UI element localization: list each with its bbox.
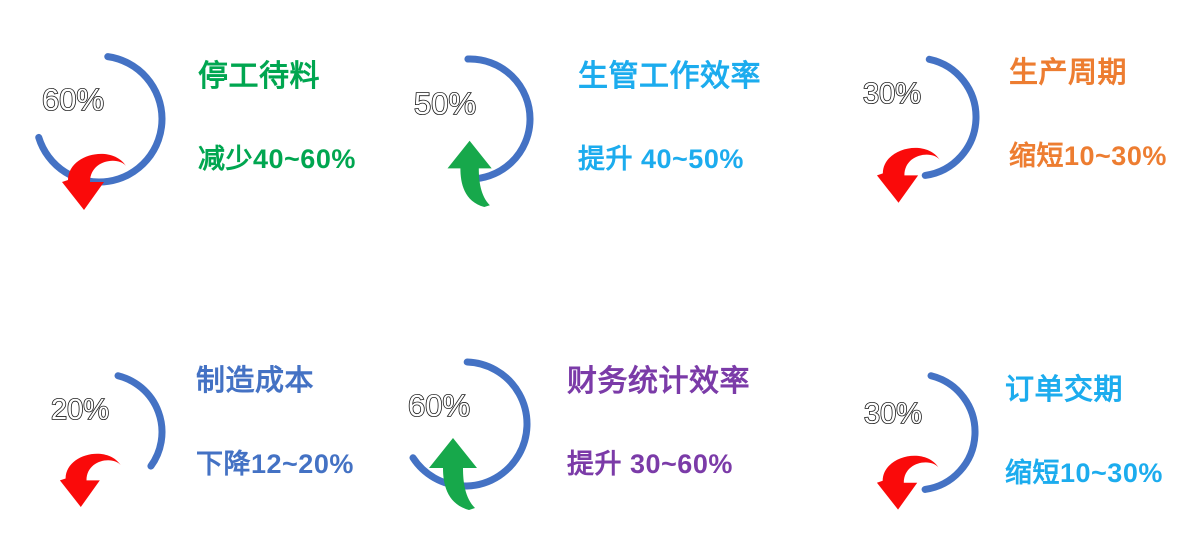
benefit-item: 50%生管工作效率提升 40~50% [408, 22, 761, 212]
benefit-subtitle: 缩短10~30% [1009, 142, 1167, 172]
infographic-board: 60%停工待料减少40~60% 50%生管工作效率提升 40~50% 30%生产… [0, 0, 1194, 555]
benefit-subtitle: 提升 30~60% [567, 450, 750, 480]
gauge: 60% [14, 22, 184, 212]
benefit-subtitle: 减少40~60% [198, 145, 356, 175]
gauge-percent-label: 60% [0, 84, 158, 115]
benefit-subtitle: 下降12~20% [196, 450, 354, 480]
gauge: 30% [845, 22, 995, 207]
benefit-title: 生管工作效率 [578, 60, 761, 93]
benefit-title: 制造成本 [196, 366, 354, 398]
gauge: 30% [845, 352, 995, 512]
benefit-title: 订单交期 [1005, 375, 1163, 407]
benefit-item: 30%生产周期缩短10~30% [845, 22, 1167, 207]
benefit-labels: 财务统计效率提升 30~60% [567, 365, 750, 480]
gauge-percent-label: 30% [817, 80, 967, 109]
gauge-arc-icon [14, 22, 184, 212]
gauge: 50% [408, 22, 548, 212]
arc-track [925, 59, 976, 175]
gauge-percent-label: 50% [375, 88, 515, 119]
benefit-labels: 制造成本下降12~20% [196, 366, 354, 480]
benefit-labels: 订单交期缩短10~30% [1005, 375, 1163, 489]
gauge-percent-label: 60% [359, 390, 519, 421]
curved-arrow-up-icon [429, 438, 477, 510]
benefit-labels: 生产周期缩短10~30% [1009, 58, 1167, 172]
benefit-title: 停工待料 [198, 60, 356, 93]
benefit-labels: 生管工作效率提升 40~50% [578, 60, 761, 175]
benefit-item: 60%财务统计效率提升 30~60% [385, 332, 750, 512]
gauge-arc-icon [845, 22, 995, 207]
benefit-labels: 停工待料减少40~60% [198, 60, 356, 175]
benefit-item: 20%制造成本下降12~20% [34, 340, 354, 505]
benefit-item: 30%订单交期缩短10~30% [845, 352, 1163, 512]
gauge-percent-label: 30% [818, 400, 968, 429]
gauge-percent-label: 20% [5, 396, 155, 425]
curved-arrow-down-icon [877, 456, 938, 510]
benefit-item: 60%停工待料减少40~60% [14, 22, 356, 212]
curved-arrow-down-icon [60, 454, 121, 507]
benefit-title: 生产周期 [1009, 58, 1167, 90]
benefit-title: 财务统计效率 [567, 365, 750, 398]
benefit-subtitle: 缩短10~30% [1005, 459, 1163, 489]
gauge-arc-icon [845, 352, 995, 512]
gauge: 20% [34, 340, 184, 505]
arc-track [925, 376, 975, 490]
benefit-subtitle: 提升 40~50% [578, 145, 761, 175]
gauge: 60% [385, 332, 545, 512]
